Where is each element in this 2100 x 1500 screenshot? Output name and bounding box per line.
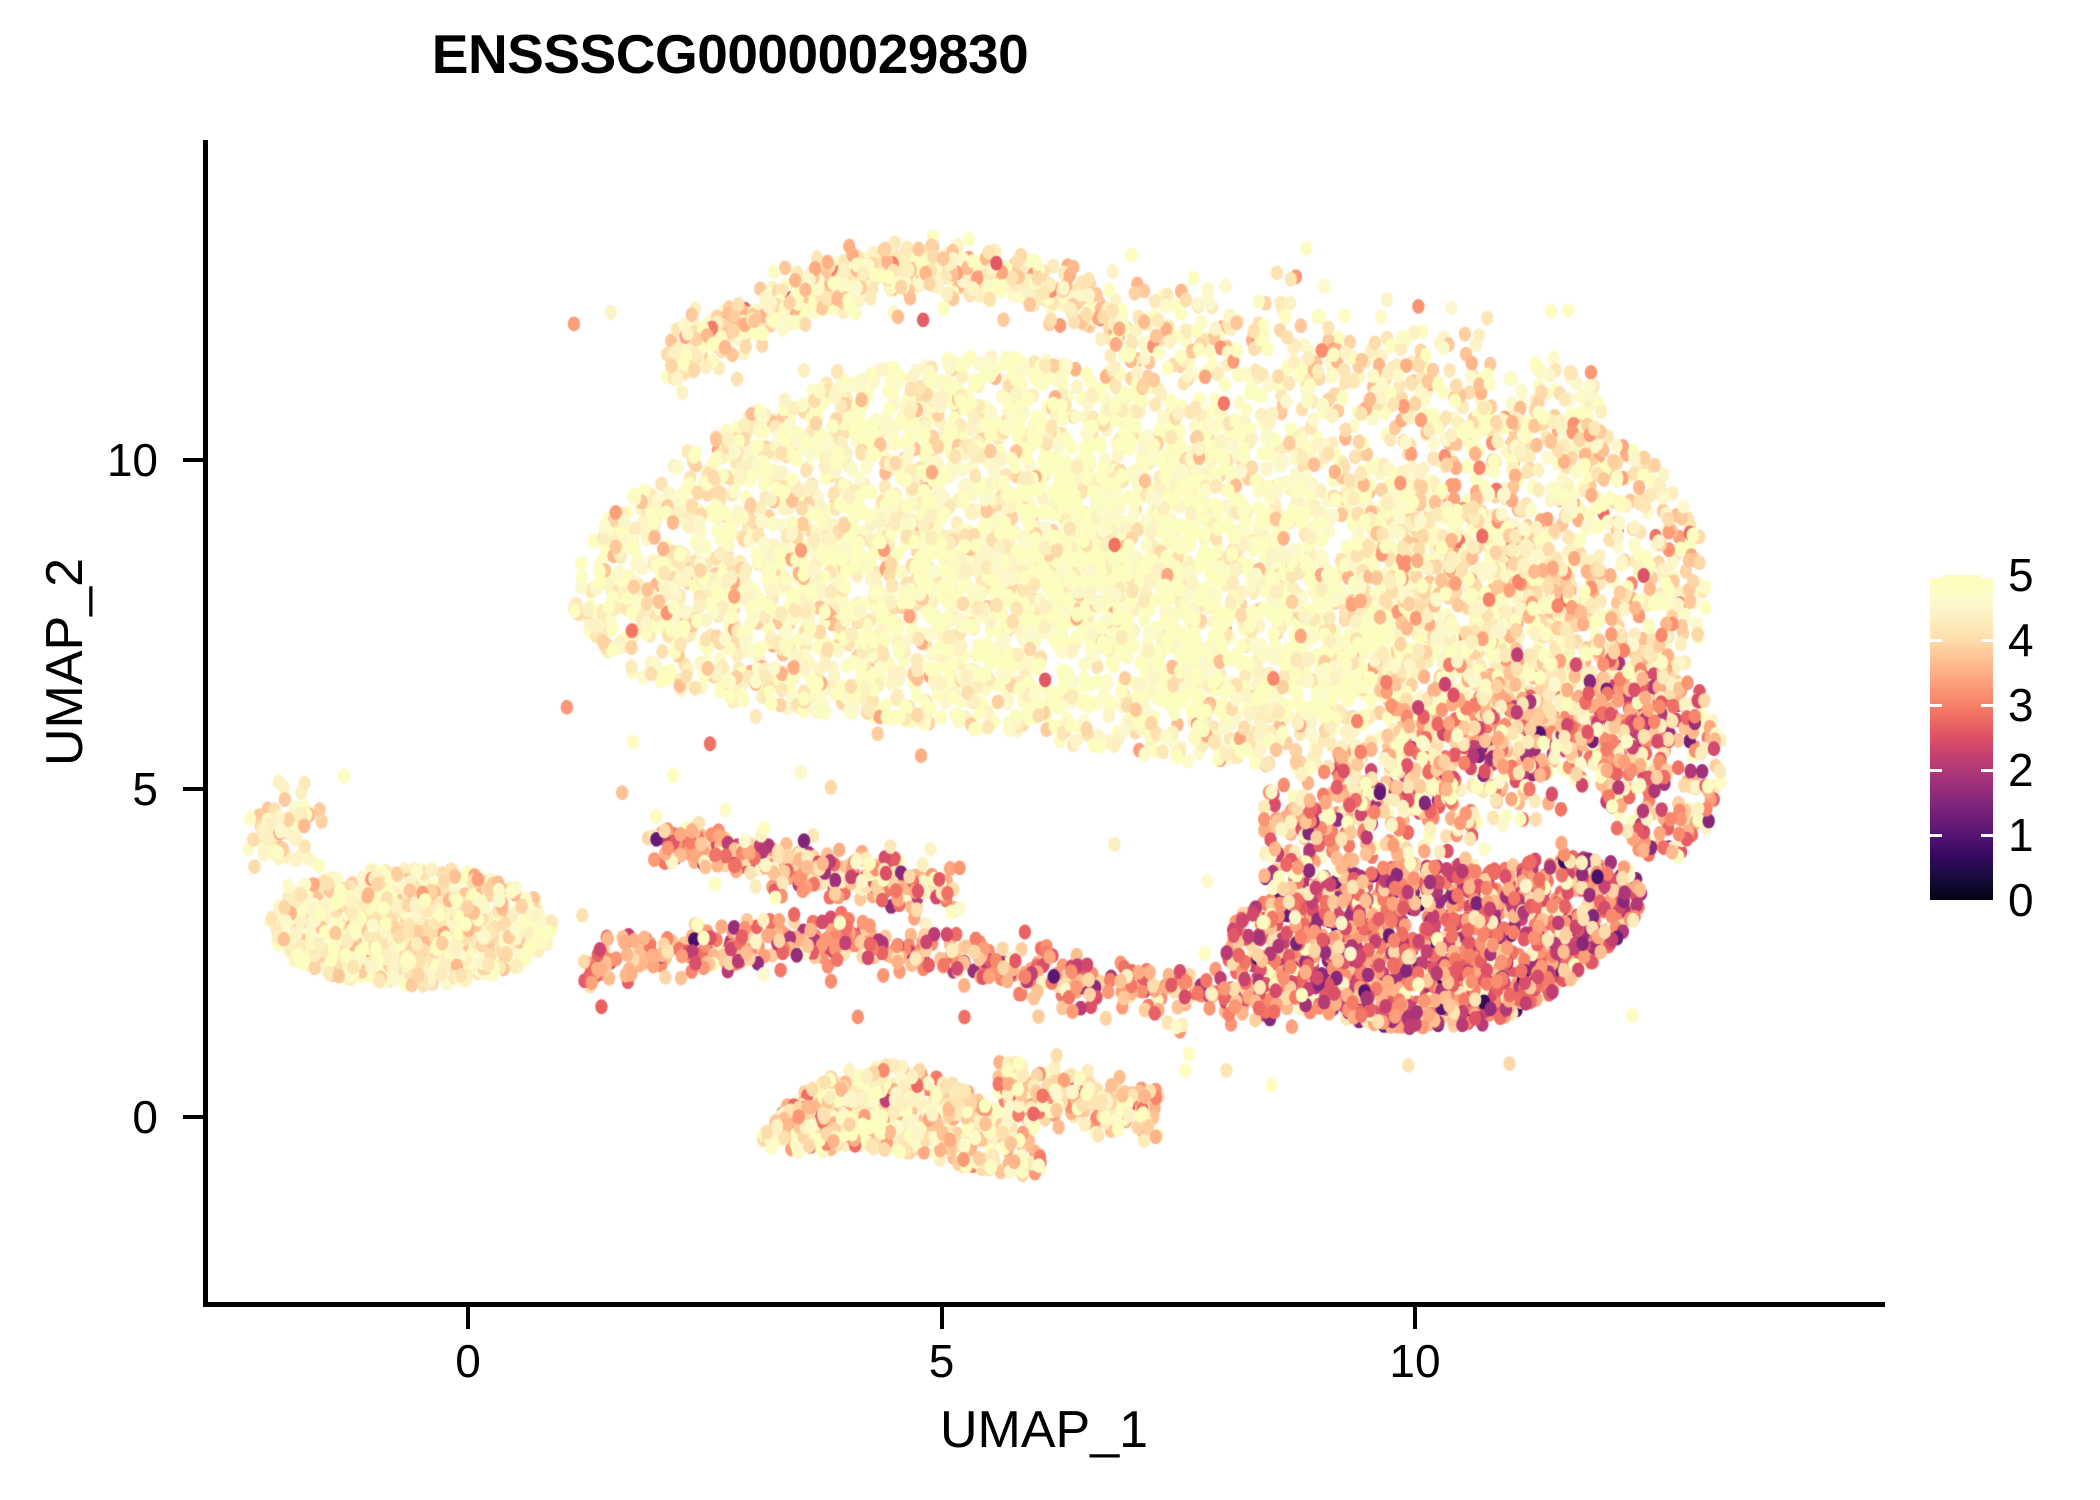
colorbar-legend: 012345 [1930, 575, 1993, 900]
colorbar-tick-label: 4 [2008, 613, 2034, 667]
colorbar-canvas [1930, 575, 1993, 900]
colorbar-tick-right [1981, 639, 1993, 642]
x-tick-label: 10 [1389, 1334, 1440, 1388]
colorbar-tick-label: 0 [2008, 873, 2034, 927]
colorbar-tick-label: 5 [2008, 548, 2034, 602]
colorbar-tick-left [1930, 704, 1942, 707]
colorbar-tick-label: 2 [2008, 743, 2034, 797]
colorbar-gradient-bar: 012345 [1930, 575, 1993, 900]
y-axis-line [203, 140, 208, 1306]
x-tick-mark [1413, 1307, 1417, 1329]
colorbar-tick-label: 3 [2008, 678, 2034, 732]
scatter-canvas [205, 140, 1885, 1305]
x-axis-title: UMAP_1 [203, 1400, 1885, 1460]
figure-root: ENSSSCG00000029830 05100510 UMAP_2 UMAP_… [0, 0, 2100, 1500]
colorbar-tick-right [1981, 575, 1993, 578]
y-tick-mark [183, 1115, 203, 1119]
colorbar-tick-left [1930, 639, 1942, 642]
y-tick-mark [183, 458, 203, 462]
colorbar-tick-right [1981, 834, 1993, 837]
x-axis-line [203, 1302, 1885, 1307]
x-tick-mark [940, 1307, 944, 1329]
x-tick-label: 5 [929, 1334, 955, 1388]
colorbar-tick-label: 1 [2008, 808, 2034, 862]
y-tick-mark [183, 787, 203, 791]
x-tick-label: 0 [455, 1334, 481, 1388]
y-axis-title: UMAP_2 [35, 382, 95, 942]
y-tick-label: 0 [132, 1090, 158, 1144]
colorbar-tick-left [1930, 834, 1942, 837]
colorbar-tick-left [1930, 769, 1942, 772]
colorbar-tick-left [1930, 575, 1942, 578]
colorbar-tick-right [1981, 769, 1993, 772]
plot-panel [205, 140, 1885, 1305]
x-tick-mark [466, 1307, 470, 1329]
page-title: ENSSSCG00000029830 [0, 22, 1460, 86]
y-tick-label: 10 [107, 433, 158, 487]
colorbar-tick-right [1981, 704, 1993, 707]
y-tick-label: 5 [132, 762, 158, 816]
